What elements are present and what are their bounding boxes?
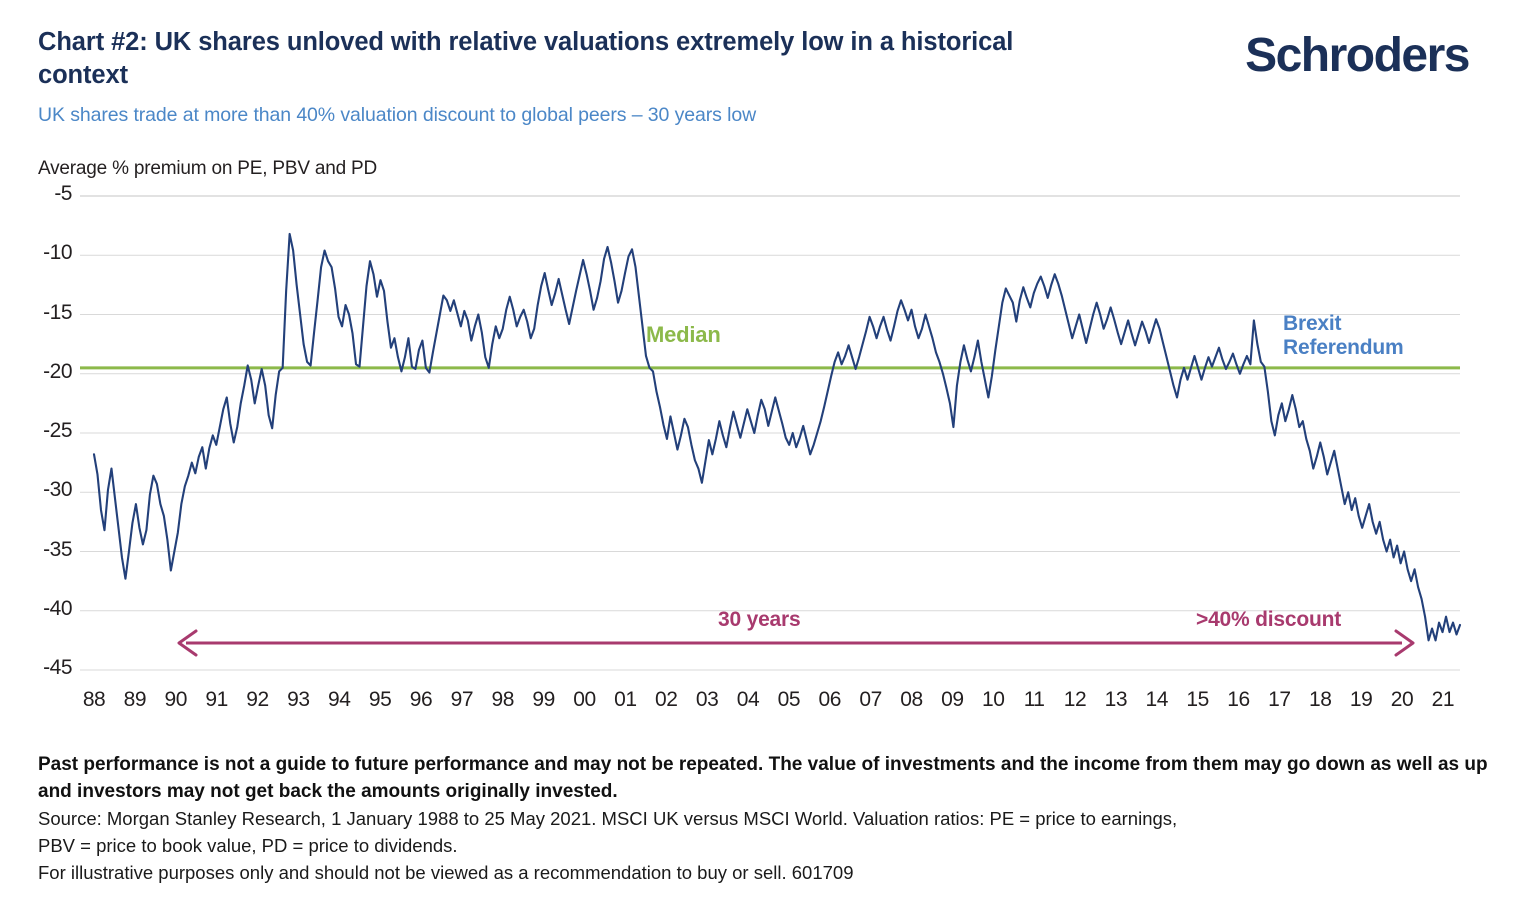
y-axis-tick-label: -40 [14, 597, 72, 621]
disclaimer-text: Past performance is not a guide to futur… [38, 752, 1498, 806]
x-axis-tick-label: 06 [810, 688, 850, 712]
span-arrow [179, 631, 1413, 655]
x-axis-tick-label: 03 [687, 688, 727, 712]
x-axis-tick-label: 99 [524, 688, 564, 712]
x-axis-tick-label: 10 [973, 688, 1013, 712]
x-axis-tick-label: 18 [1300, 688, 1340, 712]
source-line-3: For illustrative purposes only and shoul… [38, 860, 1498, 887]
source-line-2: PBV = price to book value, PD = price to… [38, 833, 1498, 860]
chart-page: Chart #2: UK shares unloved with relativ… [0, 0, 1527, 906]
x-axis-tick-label: 07 [851, 688, 891, 712]
x-axis-tick-label: 08 [891, 688, 931, 712]
x-axis-tick-label: 90 [156, 688, 196, 712]
x-axis-tick-label: 09 [932, 688, 972, 712]
x-axis-tick-label: 14 [1137, 688, 1177, 712]
brexit-label-line1: Brexit [1283, 312, 1341, 335]
data-series-line [94, 234, 1460, 640]
footer: Past performance is not a guide to futur… [38, 752, 1498, 886]
y-axis-tick-label: -25 [14, 419, 72, 443]
x-axis-tick-label: 16 [1218, 688, 1258, 712]
discount-label: >40% discount [1196, 608, 1341, 632]
x-axis-tick-label: 17 [1259, 688, 1299, 712]
y-axis-tick-label: -45 [14, 656, 72, 680]
x-axis-tick-label: 97 [442, 688, 482, 712]
x-axis-tick-label: 12 [1055, 688, 1095, 712]
x-axis-tick-label: 95 [360, 688, 400, 712]
x-axis-tick-label: 19 [1341, 688, 1381, 712]
x-axis-tick-label: 00 [564, 688, 604, 712]
y-axis-tick-label: -10 [14, 241, 72, 265]
x-axis-tick-label: 15 [1178, 688, 1218, 712]
brexit-referendum-label: Brexit Referendum [1283, 312, 1404, 359]
x-axis-tick-label: 04 [728, 688, 768, 712]
x-axis-tick-label: 91 [197, 688, 237, 712]
y-axis-tick-label: -5 [14, 182, 72, 206]
thirty-years-label: 30 years [718, 608, 800, 632]
x-axis-tick-label: 89 [115, 688, 155, 712]
x-axis-tick-label: 01 [605, 688, 645, 712]
x-axis-tick-label: 92 [237, 688, 277, 712]
x-axis-tick-label: 93 [278, 688, 318, 712]
x-axis-tick-label: 11 [1014, 688, 1054, 712]
source-line-1: Source: Morgan Stanley Research, 1 Janua… [38, 806, 1498, 833]
y-axis-tick-label: -20 [14, 360, 72, 384]
brexit-label-line2: Referendum [1283, 336, 1404, 359]
median-label: Median [646, 322, 721, 348]
x-axis-tick-label: 02 [646, 688, 686, 712]
x-axis-tick-label: 05 [769, 688, 809, 712]
y-axis-tick-label: -30 [14, 478, 72, 502]
x-axis-tick-label: 20 [1382, 688, 1422, 712]
x-axis-tick-label: 21 [1423, 688, 1463, 712]
x-axis-tick-label: 98 [483, 688, 523, 712]
x-axis-tick-label: 13 [1096, 688, 1136, 712]
x-axis-tick-label: 88 [74, 688, 114, 712]
x-axis-tick-label: 94 [319, 688, 359, 712]
y-axis-tick-label: -15 [14, 301, 72, 325]
x-axis-tick-label: 96 [401, 688, 441, 712]
y-axis-tick-label: -35 [14, 538, 72, 562]
